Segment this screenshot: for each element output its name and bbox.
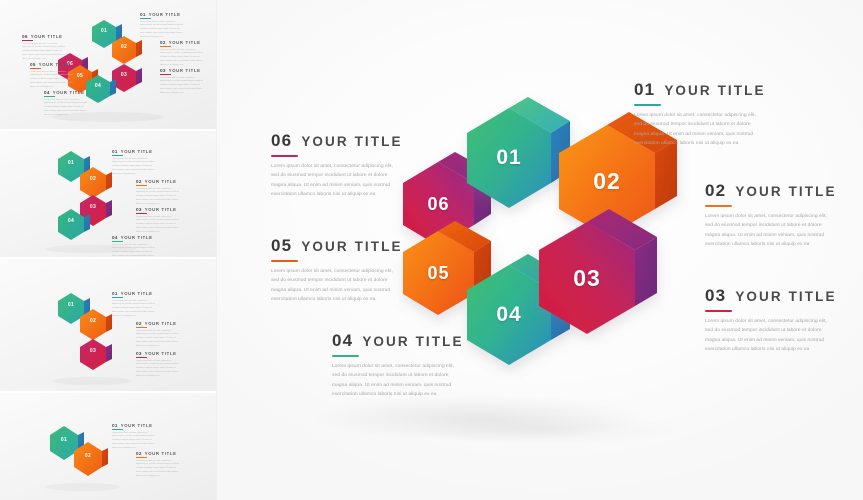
mini-rule bbox=[136, 457, 147, 458]
infographic-screen: 01 02 03 04 05 06 01 YOUR TITLE Lorem ip… bbox=[0, 0, 863, 500]
thumb1-hex-03 bbox=[112, 64, 142, 92]
text-block-heading: 05 YOUR TITLE bbox=[271, 236, 403, 256]
text-block-heading: 02 YOUR TITLE bbox=[705, 181, 837, 201]
text-block-number: 01 bbox=[634, 80, 655, 100]
thumbnail-stage: 01 02 03 04 01 YOUR TITLE Lorem ipsum do… bbox=[0, 131, 216, 257]
mini-rule bbox=[136, 213, 147, 214]
text-block-02: 02 YOUR TITLE Lorem ipsum dolor sit amet… bbox=[705, 181, 837, 250]
thumb4-text-02: 02 YOUR TITLE Lorem ipsum dolor sit amet… bbox=[136, 451, 180, 479]
text-block-rule bbox=[634, 104, 661, 106]
mini-rule bbox=[140, 18, 151, 19]
mini-body: Lorem ipsum dolor sit amet, consectetur … bbox=[112, 244, 156, 257]
text-block-heading: 01 YOUR TITLE bbox=[634, 80, 766, 100]
mini-num: 02 bbox=[160, 40, 166, 45]
thumbnail-three-step[interactable]: 01 02 03 01 YOUR TITLE Lorem ipsum dolor… bbox=[0, 259, 216, 391]
mini-rule bbox=[136, 357, 147, 358]
mini-num: 01 bbox=[140, 12, 146, 17]
mini-num: 05 bbox=[30, 62, 36, 67]
thumb3-text-01: 01 YOUR TITLE Lorem ipsum dolor sit amet… bbox=[112, 291, 156, 319]
text-block-heading: 06 YOUR TITLE bbox=[271, 131, 403, 151]
mini-rule bbox=[136, 327, 147, 328]
thumb1-text-02: 02 YOUR TITLE Lorem ipsum dolor sit amet… bbox=[160, 40, 204, 68]
mini-title: YOUR TITLE bbox=[121, 423, 153, 428]
text-block-title: YOUR TITLE bbox=[301, 134, 402, 149]
text-block-number: 05 bbox=[271, 236, 292, 256]
main-hex-03[interactable] bbox=[539, 209, 657, 334]
text-block-rule bbox=[705, 205, 732, 207]
mini-body: Lorem ipsum dolor sit amet, consectetur … bbox=[112, 158, 156, 177]
mini-rule bbox=[160, 46, 171, 47]
mini-num: 01 bbox=[112, 423, 118, 428]
thumb2-text-02: 02 YOUR TITLE Lorem ipsum dolor sit amet… bbox=[136, 179, 180, 207]
mini-title: YOUR TITLE bbox=[121, 235, 153, 240]
text-block-body: Lorem ipsum dolor sit amet, consectetur … bbox=[271, 162, 393, 200]
mini-rule bbox=[112, 429, 123, 430]
text-block-body: Lorem ipsum dolor sit amet, consectetur … bbox=[634, 111, 756, 149]
mini-num: 01 bbox=[112, 149, 118, 154]
thumb1-text-05: 05 YOUR TITLE Lorem ipsum dolor sit amet… bbox=[30, 62, 74, 90]
thumb1-text-01: 01 YOUR TITLE Lorem ipsum dolor sit amet… bbox=[140, 12, 184, 40]
mini-rule bbox=[44, 96, 55, 97]
thumbnail-stage: 01 02 03 04 05 06 01 YOUR TITLE Lorem ip… bbox=[0, 0, 216, 129]
mini-title: YOUR TITLE bbox=[149, 12, 181, 17]
thumb3-text-03: 03 YOUR TITLE Lorem ipsum dolor sit amet… bbox=[136, 351, 180, 379]
main-hex-01[interactable] bbox=[467, 97, 570, 208]
mini-rule bbox=[112, 241, 123, 242]
text-block-body: Lorem ipsum dolor sit amet, consectetur … bbox=[705, 317, 827, 355]
thumb3-hexagons bbox=[0, 259, 216, 391]
mini-body: Lorem ipsum dolor sit amet, consectetur … bbox=[136, 460, 180, 479]
mini-title: YOUR TITLE bbox=[39, 62, 71, 67]
thumb2-text-01: 01 YOUR TITLE Lorem ipsum dolor sit amet… bbox=[112, 149, 156, 177]
mini-body: Lorem ipsum dolor sit amet, consectetur … bbox=[136, 216, 180, 235]
text-block-05: 05 YOUR TITLE Lorem ipsum dolor sit amet… bbox=[271, 236, 403, 305]
thumbnail-six-step[interactable]: 01 02 03 04 05 06 01 YOUR TITLE Lorem ip… bbox=[0, 0, 216, 129]
thumb2-text-04: 04 YOUR TITLE Lorem ipsum dolor sit amet… bbox=[112, 235, 156, 257]
text-block-body: Lorem ipsum dolor sit amet, consectetur … bbox=[271, 267, 393, 305]
mini-rule bbox=[112, 155, 123, 156]
thumbnail-stage: 01 02 03 01 YOUR TITLE Lorem ipsum dolor… bbox=[0, 259, 216, 391]
mini-body: Lorem ipsum dolor sit amet, consectetur … bbox=[44, 99, 88, 118]
thumb4-hexagons bbox=[0, 393, 216, 500]
text-block-title: YOUR TITLE bbox=[362, 334, 463, 349]
text-block-heading: 04 YOUR TITLE bbox=[332, 331, 464, 351]
mini-num: 06 bbox=[22, 34, 28, 39]
mini-num: 02 bbox=[136, 321, 142, 326]
thumb1-text-04: 04 YOUR TITLE Lorem ipsum dolor sit amet… bbox=[44, 90, 88, 118]
thumb2-text-03: 03 YOUR TITLE Lorem ipsum dolor sit amet… bbox=[136, 207, 180, 235]
mini-body: Lorem ipsum dolor sit amet, consectetur … bbox=[30, 71, 74, 90]
text-block-number: 06 bbox=[271, 131, 292, 151]
mini-num: 03 bbox=[136, 351, 142, 356]
mini-body: Lorem ipsum dolor sit amet, consectetur … bbox=[136, 188, 180, 207]
text-block-body: Lorem ipsum dolor sit amet, consectetur … bbox=[705, 212, 827, 250]
text-block-06: 06 YOUR TITLE Lorem ipsum dolor sit amet… bbox=[271, 131, 403, 200]
mini-body: Lorem ipsum dolor sit amet, consectetur … bbox=[136, 360, 180, 379]
text-block-rule bbox=[271, 155, 298, 157]
mini-title: YOUR TITLE bbox=[145, 451, 177, 456]
thumb2-hexagons bbox=[0, 131, 216, 257]
text-block-rule bbox=[271, 260, 298, 262]
text-block-body: Lorem ipsum dolor sit amet, consectetur … bbox=[332, 362, 454, 400]
mini-body: Lorem ipsum dolor sit amet, consectetur … bbox=[22, 43, 66, 62]
thumb4-text-01: 01 YOUR TITLE Lorem ipsum dolor sit amet… bbox=[112, 423, 156, 451]
mini-title: YOUR TITLE bbox=[169, 68, 201, 73]
mini-title: YOUR TITLE bbox=[121, 291, 153, 296]
text-block-rule bbox=[332, 355, 359, 357]
text-block-04: 04 YOUR TITLE Lorem ipsum dolor sit amet… bbox=[332, 331, 464, 400]
text-block-title: YOUR TITLE bbox=[735, 289, 836, 304]
text-block-title: YOUR TITLE bbox=[735, 184, 836, 199]
mini-num: 02 bbox=[136, 179, 142, 184]
mini-body: Lorem ipsum dolor sit amet, consectetur … bbox=[160, 49, 204, 68]
text-block-title: YOUR TITLE bbox=[301, 239, 402, 254]
mini-title: YOUR TITLE bbox=[145, 207, 177, 212]
mini-body: Lorem ipsum dolor sit amet, consectetur … bbox=[112, 300, 156, 319]
mini-num: 02 bbox=[136, 451, 142, 456]
mini-rule bbox=[136, 185, 147, 186]
mini-num: 01 bbox=[112, 291, 118, 296]
thumb1-text-06: 06 YOUR TITLE Lorem ipsum dolor sit amet… bbox=[22, 34, 66, 62]
text-block-rule bbox=[705, 310, 732, 312]
mini-body: Lorem ipsum dolor sit amet, consectetur … bbox=[112, 432, 156, 451]
preview-rail: 01 02 03 04 05 06 01 YOUR TITLE Lorem ip… bbox=[0, 0, 217, 500]
mini-rule bbox=[112, 297, 123, 298]
mini-rule bbox=[160, 74, 171, 75]
mini-title: YOUR TITLE bbox=[145, 321, 177, 326]
mini-num: 03 bbox=[136, 207, 142, 212]
mini-title: YOUR TITLE bbox=[169, 40, 201, 45]
text-block-heading: 03 YOUR TITLE bbox=[705, 286, 837, 306]
text-block-title: YOUR TITLE bbox=[664, 83, 765, 98]
thumb3-text-02: 02 YOUR TITLE Lorem ipsum dolor sit amet… bbox=[136, 321, 180, 349]
mini-body: Lorem ipsum dolor sit amet, consectetur … bbox=[140, 21, 184, 40]
mini-body: Lorem ipsum dolor sit amet, consectetur … bbox=[136, 330, 180, 349]
mini-title: YOUR TITLE bbox=[31, 34, 63, 39]
mini-rule bbox=[22, 40, 33, 41]
text-block-01: 01 YOUR TITLE Lorem ipsum dolor sit amet… bbox=[634, 80, 766, 149]
thumb1-text-03: 03 YOUR TITLE Lorem ipsum dolor sit amet… bbox=[160, 68, 204, 96]
mini-title: YOUR TITLE bbox=[145, 179, 177, 184]
mini-num: 04 bbox=[44, 90, 50, 95]
text-block-03: 03 YOUR TITLE Lorem ipsum dolor sit amet… bbox=[705, 286, 837, 355]
mini-title: YOUR TITLE bbox=[121, 149, 153, 154]
mini-rule bbox=[30, 68, 41, 69]
thumbnail-four-step[interactable]: 01 02 03 04 01 YOUR TITLE Lorem ipsum do… bbox=[0, 131, 216, 257]
mini-title: YOUR TITLE bbox=[145, 351, 177, 356]
mini-num: 04 bbox=[112, 235, 118, 240]
mini-body: Lorem ipsum dolor sit amet, consectetur … bbox=[160, 77, 204, 96]
thumbnail-stage: 01 02 01 YOUR TITLE Lorem ipsum dolor si… bbox=[0, 393, 216, 500]
text-block-number: 04 bbox=[332, 331, 353, 351]
main-canvas: 01 02 03 04 05 06 01 YOUR TITLE Lorem ip… bbox=[217, 0, 863, 500]
mini-num: 03 bbox=[160, 68, 166, 73]
mini-title: YOUR TITLE bbox=[53, 90, 85, 95]
text-block-number: 03 bbox=[705, 286, 726, 306]
thumbnail-two-step[interactable]: 01 02 01 YOUR TITLE Lorem ipsum dolor si… bbox=[0, 393, 216, 500]
text-block-number: 02 bbox=[705, 181, 726, 201]
thumb3-hex-03 bbox=[80, 339, 112, 370]
